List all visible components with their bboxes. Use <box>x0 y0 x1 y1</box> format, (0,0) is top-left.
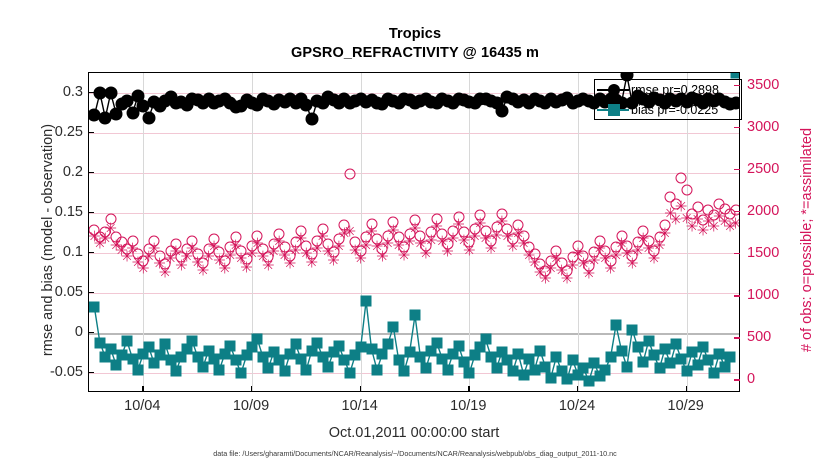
marker-bias <box>111 360 122 371</box>
marker-bias <box>464 368 475 379</box>
marker-bias <box>545 372 556 383</box>
marker-obs-assimilated: ✳ <box>409 221 422 236</box>
marker-bias <box>143 342 154 353</box>
y-tick-right <box>734 169 740 170</box>
marker-bias <box>670 339 681 350</box>
marker-bias <box>94 337 105 348</box>
marker-bias <box>165 355 176 366</box>
marker-bias <box>551 352 562 363</box>
marker-bias <box>714 348 725 359</box>
marker-bias <box>518 369 529 380</box>
marker-bias <box>214 364 225 375</box>
marker-bias <box>643 336 654 347</box>
y-tick-label-right: 3500 <box>747 77 779 93</box>
y-axis-right-title: # of obs: o=possible; *=assimilated <box>799 80 815 400</box>
marker-bias <box>453 340 464 351</box>
marker-bias <box>420 363 431 374</box>
y-tick-right <box>734 127 740 128</box>
marker-bias <box>578 363 589 374</box>
figure-canvas: Tropics GPSRO_REFRACTIVITY @ 16435 m ✳✳✳… <box>0 0 830 470</box>
marker-bias <box>458 356 469 367</box>
marker-bias <box>122 336 133 347</box>
marker-bias <box>616 345 627 356</box>
marker-bias <box>589 358 600 369</box>
marker-obs-assimilated: ✳ <box>387 223 400 238</box>
marker-bias <box>442 364 453 375</box>
marker-bias <box>621 361 632 372</box>
marker-bias <box>170 366 181 377</box>
marker-obs-assimilated: ✳ <box>496 215 509 230</box>
marker-bias <box>654 363 665 374</box>
marker-rmse <box>495 104 508 117</box>
marker-bias <box>105 344 116 355</box>
y-axis-left-ticks <box>88 72 94 392</box>
marker-bias <box>431 337 442 348</box>
x-tick-label: 10/04 <box>124 398 160 414</box>
marker-bias <box>698 342 709 353</box>
marker-bias <box>187 336 198 347</box>
y-axis-right-tick-labels: 3500300025002000150010005000 <box>747 72 803 392</box>
legend-item-bias[interactable]: bias pr=-0.0225 <box>595 100 741 120</box>
marker-obs-assimilated: ✳ <box>452 218 465 233</box>
marker-bias <box>323 361 334 372</box>
chart-title: GPSRO_REFRACTIVITY @ 16435 m <box>0 45 830 61</box>
marker-bias <box>236 368 247 379</box>
y-tick-left <box>88 252 94 253</box>
y-tick-right <box>734 211 740 212</box>
y-tick-label-right: 1000 <box>747 287 779 303</box>
marker-bias <box>355 342 366 353</box>
x-tick-label: 10/19 <box>450 398 486 414</box>
marker-bias <box>160 339 171 350</box>
legend-label-rmse: rmse pr=0.2898 <box>631 83 719 97</box>
marker-bias <box>491 363 502 374</box>
marker-obs-assimilated: ✳ <box>104 221 117 236</box>
marker-obs_possible <box>344 169 355 180</box>
marker-bias <box>486 352 497 363</box>
y-tick-left <box>88 92 94 93</box>
marker-bias <box>659 344 670 355</box>
y-tick-right <box>734 379 740 380</box>
marker-bias <box>437 353 448 364</box>
marker-bias <box>562 374 573 385</box>
marker-bias <box>361 296 372 307</box>
marker-bias <box>524 353 535 364</box>
y-tick-label-right: 1500 <box>747 245 779 261</box>
marker-bias <box>605 352 616 363</box>
marker-bias <box>583 376 594 387</box>
marker-bias <box>399 366 410 377</box>
x-tick <box>577 386 578 392</box>
y-axis-left-title: rmse and bias (model - observation) <box>40 80 56 400</box>
y-tick-label-right: 0 <box>747 371 755 387</box>
marker-bias <box>263 363 274 374</box>
x-tick-label: 10/14 <box>342 398 378 414</box>
y-tick-left <box>88 212 94 213</box>
y-tick-left <box>88 132 94 133</box>
marker-bias <box>388 321 399 332</box>
legend[interactable]: rmse pr=0.2898 bias pr=-0.0225 <box>594 79 742 120</box>
marker-obs_possible <box>681 185 692 196</box>
data-file-footer: data file: /Users/gharamti/Documents/NCA… <box>0 449 830 458</box>
marker-rmse <box>104 87 117 100</box>
y-tick-label-left: 0 <box>75 324 83 340</box>
marker-bias <box>377 348 388 359</box>
y-tick-left <box>88 172 94 173</box>
x-tick <box>360 386 361 392</box>
marker-bias <box>600 364 611 375</box>
y-tick-label-left: 0.05 <box>55 284 83 300</box>
legend-label-bias: bias pr=-0.0225 <box>631 103 718 117</box>
marker-bias <box>513 348 524 359</box>
y-axis-right-ticks <box>734 72 740 392</box>
y-tick-label-left: 0.1 <box>63 244 83 260</box>
marker-bias <box>529 364 540 375</box>
y-tick-right <box>734 253 740 254</box>
marker-bias <box>274 355 285 366</box>
y-tick-label-left: 0.25 <box>55 124 83 140</box>
marker-bias <box>382 339 393 350</box>
y-tick-right <box>734 337 740 338</box>
marker-bias <box>393 355 404 366</box>
marker-bias <box>198 361 209 372</box>
marker-bias <box>708 368 719 379</box>
legend-swatch-rmse <box>595 81 631 99</box>
marker-bias <box>257 352 268 363</box>
x-axis-ticks <box>88 386 740 392</box>
y-tick-label-right: 2000 <box>747 203 779 219</box>
marker-bias <box>567 355 578 366</box>
marker-bias <box>703 355 714 366</box>
marker-bias <box>209 353 220 364</box>
marker-bias <box>127 353 138 364</box>
marker-bias <box>681 366 692 377</box>
marker-bias <box>285 348 296 359</box>
marker-obs-assimilated: ✳ <box>344 225 357 240</box>
legend-item-rmse[interactable]: rmse pr=0.2898 <box>595 80 741 100</box>
marker-rmse <box>305 113 318 126</box>
marker-bias <box>230 355 241 366</box>
marker-bias <box>649 350 660 361</box>
marker-bias <box>290 339 301 350</box>
marker-obs_possible <box>676 173 687 184</box>
x-axis-title: Oct.01,2011 00:00:00 start <box>88 425 740 441</box>
x-tick <box>251 386 252 392</box>
y-tick-left <box>88 372 94 373</box>
marker-bias <box>154 350 165 361</box>
y-tick-label-right: 500 <box>747 329 771 345</box>
marker-bias <box>665 358 676 369</box>
marker-rmse <box>142 111 155 124</box>
marker-obs-assimilated: ✳ <box>365 225 378 240</box>
marker-bias <box>116 350 127 361</box>
marker-bias <box>279 366 290 377</box>
marker-bias <box>333 340 344 351</box>
marker-bias <box>719 361 730 372</box>
y-tick-label-right: 2500 <box>747 161 779 177</box>
marker-bias <box>611 320 622 331</box>
marker-bias <box>480 334 491 345</box>
marker-bias <box>502 355 513 366</box>
marker-bias <box>676 353 687 364</box>
marker-obs-assimilated: ✳ <box>474 216 487 231</box>
marker-bias <box>225 340 236 351</box>
marker-bias <box>339 355 350 366</box>
x-tick <box>686 386 687 392</box>
x-tick-label: 10/09 <box>233 398 269 414</box>
y-tick-label-right: 3000 <box>747 119 779 135</box>
marker-bias <box>252 334 263 345</box>
legend-swatch-bias <box>595 101 631 119</box>
marker-obs-assimilated: ✳ <box>430 220 443 235</box>
y-tick-left <box>88 332 94 333</box>
marker-bias <box>535 345 546 356</box>
y-tick-right <box>734 295 740 296</box>
marker-bias <box>344 368 355 379</box>
plot-area: ✳✳✳✳✳✳✳✳✳✳✳✳✳✳✳✳✳✳✳✳✳✳✳✳✳✳✳✳✳✳✳✳✳✳✳✳✳✳✳✳… <box>88 72 740 392</box>
marker-bias <box>312 337 323 348</box>
marker-bias <box>410 310 421 321</box>
marker-bias <box>627 324 638 335</box>
marker-bias <box>372 364 383 375</box>
marker-obs-assimilated: ✳ <box>316 230 329 245</box>
y-tick-label-left: 0.2 <box>63 164 83 180</box>
marker-bias <box>507 366 518 377</box>
marker-bias <box>692 360 703 371</box>
marker-bias <box>638 356 649 367</box>
marker-bias <box>295 353 306 364</box>
marker-bias <box>632 342 643 353</box>
x-tick-label: 10/24 <box>559 398 595 414</box>
marker-bias <box>687 347 698 358</box>
y-tick-label-left: 0.3 <box>63 84 83 100</box>
x-tick-label: 10/29 <box>668 398 704 414</box>
marker-obs-assimilated: ✳ <box>148 242 161 257</box>
chart-subtitle-region: Tropics <box>0 26 830 42</box>
marker-bias <box>301 364 312 375</box>
y-tick-left <box>88 292 94 293</box>
marker-bias <box>132 364 143 375</box>
x-axis-tick-labels: 10/0410/0910/1410/1910/2410/29 <box>88 398 740 418</box>
x-tick <box>142 386 143 392</box>
marker-bias <box>540 361 551 372</box>
marker-obs-assimilated: ✳ <box>295 231 308 246</box>
marker-bias <box>415 352 426 363</box>
marker-obs_possible <box>692 201 703 212</box>
x-tick <box>468 386 469 392</box>
y-tick-label-left: 0.15 <box>55 204 83 220</box>
marker-bias <box>366 344 377 355</box>
marker-bias <box>404 347 415 358</box>
